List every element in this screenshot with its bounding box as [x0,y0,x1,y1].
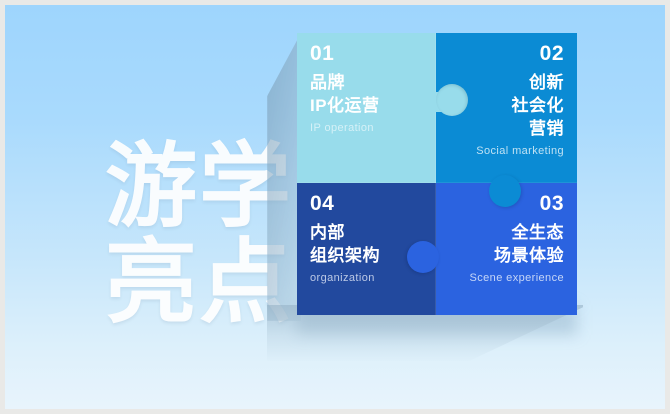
puzzle-vertical-seam [435,33,436,315]
slide-canvas: 游学 亮点 01 品牌 IP化运营 IP operation 02 [0,0,670,414]
piece-01-cn-line-2: IP化运营 [310,95,423,116]
piece-03-number: 03 [540,192,564,216]
puzzle-board: 01 品牌 IP化运营 IP operation 02 创新 社会化 营销 So… [297,33,577,315]
piece-02-en: Social marketing [476,144,564,158]
piece-03-en: Scene experience [470,271,564,285]
puzzle-horizontal-seam [297,182,577,183]
piece-01-cn-line-1: 品牌 [310,72,423,93]
puzzle-knob-01 [436,84,468,116]
piece-01-en: IP operation [310,121,423,135]
piece-02-cn-line-1: 创新 [529,72,564,93]
slide-background: 游学 亮点 01 品牌 IP化运营 IP operation 02 [5,5,665,409]
piece-04-number: 04 [310,192,423,216]
piece-03-cn-line-1: 全生态 [512,222,565,243]
piece-02-cn-line-3: 营销 [529,118,564,139]
piece-03-cn-line-2: 场景体验 [494,245,564,266]
piece-02-number: 02 [540,42,564,66]
piece-02-cn-line-2: 社会化 [512,95,565,116]
puzzle-piece-01[interactable]: 01 品牌 IP化运营 IP operation [297,33,436,183]
piece-04-en: organization [310,271,423,285]
puzzle-knob-03 [407,241,439,273]
puzzle-left-extrusion [267,33,301,321]
piece-01-number: 01 [310,42,423,66]
piece-04-cn-line-1: 内部 [310,222,423,243]
puzzle-knob-02 [489,175,521,207]
